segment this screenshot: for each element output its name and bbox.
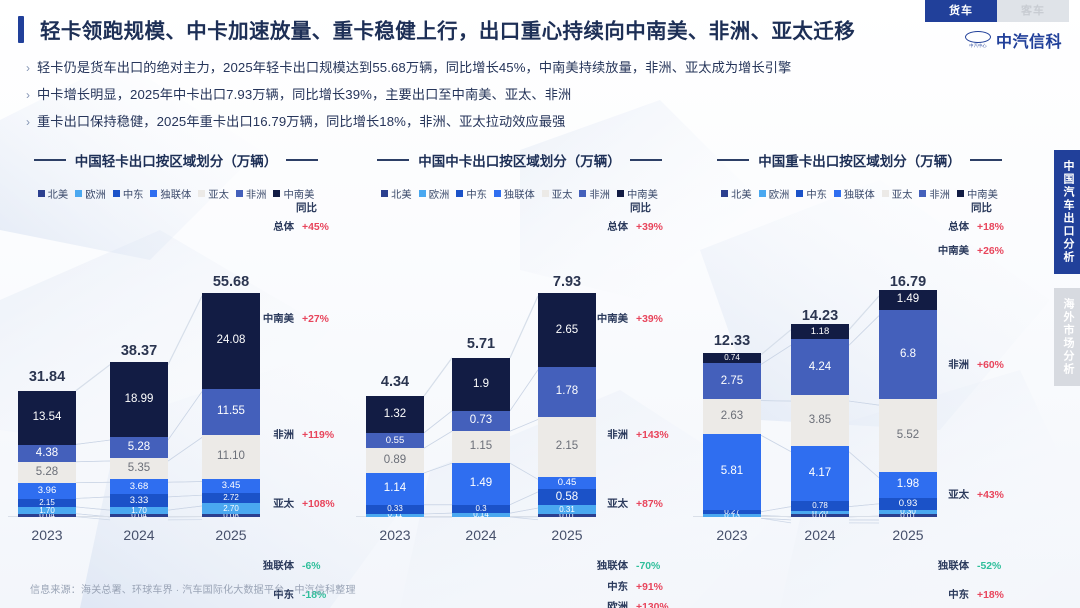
segment-value-label: 1.70	[39, 507, 55, 514]
bar-segment-北美[interactable]: 0.04	[18, 514, 76, 517]
yoy-region-label: 中南美	[258, 310, 294, 325]
legend-label: 中南美	[627, 186, 658, 201]
bar-segment-欧洲[interactable]: 0.13	[703, 514, 761, 517]
legend-item-4[interactable]: 亚太	[882, 186, 913, 201]
segment-value-label: 3.85	[809, 415, 831, 427]
legend-swatch-icon	[273, 190, 280, 197]
bar-segment-欧洲[interactable]: 0.14	[452, 513, 510, 517]
legend-label: 北美	[391, 186, 412, 201]
bar-segment-独联体[interactable]: 3.68	[110, 479, 168, 494]
legend-item-0[interactable]: 北美	[38, 186, 69, 201]
bar-segment-中南美[interactable]: 1.49	[879, 290, 937, 310]
top-tab-bar: 货车 客车	[925, 0, 1069, 22]
bar-segment-欧洲[interactable]: 2.70	[202, 503, 260, 514]
bar-segment-独联体[interactable]: 1.49	[452, 463, 510, 505]
bar-segment-中东[interactable]: 0.3	[452, 505, 510, 513]
legend-label: 中东	[466, 186, 487, 201]
legend-item-6[interactable]: 中南美	[617, 186, 658, 201]
segment-value-label: 0.33	[387, 505, 403, 513]
segment-value-label: 3.33	[130, 496, 149, 506]
yoy-value: -6%	[294, 561, 336, 572]
bar-segment-中南美[interactable]: 1.32	[366, 396, 424, 433]
slide-root: 货车 客车 中汽中心 中汽信科 轻卡领跑规模、中卡加速放量、重卡稳健上行，出口重…	[0, 0, 1080, 608]
chart-title-text: 中国重卡出口按区域划分（万辆）	[758, 150, 961, 170]
yoy-region-label: 非洲	[592, 426, 628, 441]
side-tab-bar: 中国汽车出口分析 海外市场分析	[1054, 150, 1080, 386]
legend-item-6[interactable]: 中南美	[957, 186, 998, 201]
yoy-column-header: 同比	[296, 200, 317, 215]
bar-segment-独联体[interactable]: 0.45	[538, 477, 596, 490]
bullet-item: › 重卡出口保持稳健，2025年重卡出口16.79万辆，同比增长18%，非洲、亚…	[26, 114, 1046, 130]
legend-swatch-icon	[796, 190, 803, 197]
x-axis-label-2023: 2023	[18, 527, 76, 543]
legend-swatch-icon	[381, 190, 388, 197]
segment-value-label: 1.70	[131, 507, 147, 514]
x-axis-label-2024: 2024	[110, 527, 168, 543]
legend-item-5[interactable]: 非洲	[236, 186, 267, 201]
segment-value-label: 0.89	[384, 455, 406, 467]
bar-segment-欧洲[interactable]: 1.70	[110, 507, 168, 514]
segment-value-label: 1.15	[470, 441, 492, 453]
bar-segment-独联体[interactable]: 5.81	[703, 434, 761, 510]
bar-segment-非洲[interactable]: 2.75	[703, 363, 761, 399]
segment-value-label: 4.38	[36, 448, 58, 460]
yoy-value: +26%	[969, 246, 1011, 257]
yoy-value: +130%	[628, 602, 670, 608]
x-axis-label-2023: 2023	[703, 527, 761, 543]
legend-label: 欧洲	[769, 186, 790, 201]
yoy-value: +43%	[969, 490, 1011, 501]
legend-label: 独联体	[844, 186, 875, 201]
yoy-column-header: 同比	[630, 200, 651, 215]
x-axis-label-2025: 2025	[879, 527, 937, 543]
segment-value-label: 0.58	[556, 492, 578, 504]
bar-total-label-2025: 16.79	[879, 274, 937, 290]
charts-row: 中国轻卡出口按区域划分（万辆） 北美欧洲中东独联体亚太非洲中南美 31.8420…	[0, 148, 1040, 553]
yoy-row-非洲: 非洲+143%	[592, 426, 670, 441]
segment-value-label: 2.75	[721, 376, 743, 388]
x-axis-label-2024: 2024	[791, 527, 849, 543]
segment-value-label: 0.3	[475, 505, 486, 513]
stacked-bar-2024[interactable]: 1.184.243.854.170.780.200.01	[791, 324, 849, 517]
bar-segment-亚太[interactable]: 3.85	[791, 395, 849, 446]
segment-value-label: 0.55	[386, 436, 405, 446]
segment-value-label: 0.08	[223, 514, 239, 517]
legend-swatch-icon	[759, 190, 766, 197]
yoy-value: +39%	[628, 314, 670, 325]
segment-value-label: 5.81	[721, 466, 743, 478]
bar-total-label-2023: 12.33	[703, 333, 761, 349]
title-rule-left	[717, 159, 749, 161]
stacked-bar-2023[interactable]: 0.742.752.635.810.270.130	[703, 353, 761, 517]
yoy-row-总体: 总体+18%	[933, 218, 1011, 233]
segment-value-label: 0.04	[39, 514, 55, 517]
bar-segment-亚太[interactable]: 2.15	[538, 417, 596, 477]
bar-segment-北美[interactable]: 0.01	[879, 514, 937, 517]
yoy-region-label: 独联体	[933, 557, 969, 572]
bar-segment-中南美[interactable]: 24.08	[202, 293, 260, 389]
segment-value-label: 18.99	[125, 394, 154, 406]
bar-segment-非洲[interactable]: 11.55	[202, 389, 260, 435]
legend-label: 独联体	[504, 186, 535, 201]
segment-value-label: 3.68	[130, 482, 149, 492]
legend-item-0[interactable]: 北美	[381, 186, 412, 201]
bar-total-label-2024: 38.37	[110, 343, 168, 359]
yoy-row-欧洲: 欧洲+130%	[592, 598, 670, 608]
chart-title: 中国中卡出口按区域划分（万辆）	[352, 150, 687, 170]
bullet-text: 重卡出口保持稳健，2025年重卡出口16.79万辆，同比增长18%，非洲、亚太拉…	[37, 114, 565, 130]
yoy-value: +60%	[969, 360, 1011, 371]
chart-plot-area: 31.84202313.544.385.283.962.151.700.0438…	[0, 214, 352, 553]
yoy-row-亚太: 亚太+108%	[258, 495, 336, 510]
bar-segment-非洲[interactable]: 6.8	[879, 310, 937, 400]
title-rule-left	[377, 159, 409, 161]
segment-value-label: 0.01	[812, 514, 828, 517]
chart-light-truck-exports: 中国轻卡出口按区域划分（万辆） 北美欧洲中东独联体亚太非洲中南美 31.8420…	[0, 148, 352, 553]
yoy-value: +119%	[294, 430, 336, 441]
legend-swatch-icon	[721, 190, 728, 197]
segment-value-label: 0.31	[559, 506, 575, 514]
bullet-item: › 中卡增长明显，2025年中卡出口7.93万辆，同比增长39%，主要出口至中南…	[26, 87, 1046, 103]
legend-swatch-icon	[198, 190, 205, 197]
yoy-region-label: 中南美	[592, 310, 628, 325]
bar-segment-中南美[interactable]: 1.9	[452, 358, 510, 411]
yoy-row-总体: 总体+45%	[258, 218, 336, 233]
legend-item-4[interactable]: 亚太	[542, 186, 573, 201]
bar-total-label-2024: 5.71	[452, 336, 510, 352]
yoy-value: +143%	[628, 430, 670, 441]
x-axis-label-2025: 2025	[538, 527, 596, 543]
yoy-region-label: 亚太	[592, 495, 628, 510]
yoy-row-中南美: 中南美+39%	[592, 310, 670, 325]
yoy-value: +91%	[628, 582, 670, 593]
segment-value-label: 0.13	[724, 514, 740, 517]
title-rule-left	[34, 159, 66, 161]
yoy-row-中南美: 中南美+27%	[258, 310, 336, 325]
segment-value-label: 4.17	[809, 468, 831, 480]
top-tab-buses[interactable]: 客车	[997, 0, 1069, 22]
yoy-row-中东: 中东+18%	[933, 586, 1011, 601]
legend-label: 中南美	[967, 186, 998, 201]
chart-title: 中国轻卡出口按区域划分（万辆）	[0, 150, 352, 170]
bar-total-label-2023: 4.34	[366, 374, 424, 390]
segment-value-label: 0.93	[899, 499, 918, 509]
segment-value-label: 2.15	[556, 441, 578, 453]
source-note: 信息来源：海关总署、环球车界 · 汽车国际化大数据平台、中汽信科整理	[30, 581, 356, 596]
bar-segment-中东[interactable]: 0.58	[538, 489, 596, 505]
yoy-value: +18%	[969, 590, 1011, 601]
chart-heavy-truck-exports: 中国重卡出口按区域划分（万辆） 北美欧洲中东独联体亚太非洲中南美 12.3320…	[687, 148, 1032, 553]
side-tab-china-export-analysis[interactable]: 中国汽车出口分析	[1054, 150, 1080, 274]
legend-swatch-icon	[456, 190, 463, 197]
bar-segment-亚太[interactable]: 0.89	[366, 448, 424, 473]
legend-swatch-icon	[579, 190, 586, 197]
yoy-region-label: 总体	[258, 218, 294, 233]
legend-swatch-icon	[236, 190, 243, 197]
segment-value-label: 2.70	[223, 505, 239, 513]
legend-swatch-icon	[882, 190, 889, 197]
segment-value-label: 0.45	[558, 478, 577, 488]
yoy-row-独联体: 独联体-52%	[933, 557, 1011, 572]
bullet-text: 中卡增长明显，2025年中卡出口7.93万辆，同比增长39%，主要出口至中南美、…	[37, 87, 571, 103]
segment-value-label: 2.63	[721, 411, 743, 423]
legend-swatch-icon	[38, 190, 45, 197]
brand-logo: 中汽中心 中汽信科	[965, 28, 1062, 52]
legend-item-3[interactable]: 独联体	[834, 186, 875, 201]
yoy-row-总体: 总体+39%	[592, 218, 670, 233]
bar-segment-中东[interactable]: 0.78	[791, 501, 849, 511]
segment-value-label: 11.55	[217, 406, 245, 418]
bar-segment-亚太[interactable]: 1.15	[452, 431, 510, 463]
segment-value-label: 13.54	[33, 412, 62, 424]
legend-item-3[interactable]: 独联体	[150, 186, 191, 201]
legend-item-1[interactable]: 欧洲	[419, 186, 450, 201]
chart-title: 中国重卡出口按区域划分（万辆）	[687, 150, 1032, 170]
chevron-right-icon: ›	[26, 87, 30, 103]
stacked-bar-2023[interactable]: 1.320.550.891.140.330.110	[366, 396, 424, 517]
segment-value-label: 5.52	[897, 430, 919, 442]
chart-legend: 北美欧洲中东独联体亚太非洲中南美	[352, 186, 687, 201]
bullet-text: 轻卡仍是货车出口的绝对主力，2025年轻卡出口规模达到55.68万辆，同比增长4…	[37, 60, 791, 76]
stacked-bar-2024[interactable]: 1.90.731.151.490.30.140	[452, 358, 510, 517]
yoy-region-label: 中东	[933, 586, 969, 601]
legend-item-6[interactable]: 中南美	[273, 186, 314, 201]
bar-total-label-2025: 7.93	[538, 274, 596, 290]
bar-segment-欧洲[interactable]: 1.70	[18, 507, 76, 514]
bar-segment-非洲[interactable]: 4.24	[791, 339, 849, 395]
bar-segment-北美[interactable]: 0.08	[202, 514, 260, 517]
segment-value-label: 24.08	[217, 335, 246, 347]
stacked-bar-2025[interactable]: 2.651.782.150.450.580.310.01	[538, 293, 596, 517]
segment-value-label: 0.01	[559, 514, 575, 517]
bar-segment-欧洲[interactable]: 0.11	[366, 514, 424, 517]
bar-total-label-2025: 55.68	[202, 274, 260, 290]
bar-segment-独联体[interactable]: 1.14	[366, 473, 424, 505]
bar-segment-独联体[interactable]: 3.96	[18, 483, 76, 499]
yoy-value: +108%	[294, 499, 336, 510]
legend-item-2[interactable]: 中东	[113, 186, 144, 201]
side-tab-overseas-market-analysis[interactable]: 海外市场分析	[1054, 288, 1080, 386]
bar-segment-中东[interactable]: 2.72	[202, 493, 260, 504]
bar-segment-北美[interactable]: 0.01	[538, 514, 596, 517]
bar-segment-中东[interactable]: 0.33	[366, 505, 424, 514]
legend-label: 中南美	[283, 186, 314, 201]
yoy-column-header: 同比	[971, 200, 992, 215]
bar-segment-中南美[interactable]: 0.74	[703, 353, 761, 363]
yoy-row-非洲: 非洲+60%	[933, 356, 1011, 371]
segment-value-label: 1.32	[384, 409, 406, 421]
yoy-value: +87%	[628, 499, 670, 510]
logo-mark-subtext: 中汽中心	[965, 43, 991, 49]
legend-item-2[interactable]: 中东	[796, 186, 827, 201]
yoy-region-label: 非洲	[933, 356, 969, 371]
title-rule-right	[630, 159, 662, 161]
segment-value-label: 2.15	[39, 499, 55, 507]
bar-segment-亚太[interactable]: 5.28	[18, 462, 76, 483]
summary-bullets: › 轻卡仍是货车出口的绝对主力，2025年轻卡出口规模达到55.68万辆，同比增…	[26, 60, 1046, 141]
bar-total-label-2024: 14.23	[791, 308, 849, 324]
yoy-value: +27%	[294, 314, 336, 325]
bar-segment-非洲[interactable]: 0.73	[452, 411, 510, 431]
bar-segment-中东[interactable]: 2.15	[18, 499, 76, 508]
stacked-bar-2025[interactable]: 24.0811.5511.103.452.722.700.08	[202, 293, 260, 517]
yoy-region-label: 非洲	[258, 426, 294, 441]
bar-segment-非洲[interactable]: 5.28	[110, 437, 168, 458]
legend-swatch-icon	[919, 190, 926, 197]
yoy-value: -70%	[628, 561, 670, 572]
bar-segment-北美[interactable]: 0.01	[791, 514, 849, 517]
segment-value-label: 0.04	[131, 514, 147, 517]
yoy-region-label: 中东	[592, 578, 628, 593]
stacked-bar-2024[interactable]: 18.995.285.353.683.331.700.04	[110, 362, 168, 517]
segment-value-label: 6.8	[900, 349, 916, 361]
legend-label: 欧洲	[85, 186, 106, 201]
segment-value-label: 0.01	[900, 514, 916, 517]
bar-segment-非洲[interactable]: 1.78	[538, 367, 596, 417]
segment-value-label: 1.9	[473, 379, 489, 391]
bar-segment-中东[interactable]: 0.93	[879, 498, 937, 510]
chart-plot-area: 4.3420231.320.550.891.140.330.1105.71202…	[352, 214, 687, 553]
segment-value-label: 1.49	[470, 478, 492, 490]
legend-item-2[interactable]: 中东	[456, 186, 487, 201]
yoy-region-label: 独联体	[258, 557, 294, 572]
yoy-row-亚太: 亚太+87%	[592, 495, 670, 510]
legend-label: 非洲	[246, 186, 267, 201]
yoy-row-独联体: 独联体-6%	[258, 557, 336, 572]
legend-swatch-icon	[150, 190, 157, 197]
legend-item-1[interactable]: 欧洲	[75, 186, 106, 201]
chevron-right-icon: ›	[26, 60, 30, 76]
legend-label: 非洲	[589, 186, 610, 201]
x-axis-label-2024: 2024	[452, 527, 510, 543]
yoy-region-label: 亚太	[258, 495, 294, 510]
yoy-value: +45%	[294, 222, 336, 233]
logo-icon: 中汽中心	[965, 31, 991, 49]
legend-label: 中东	[806, 186, 827, 201]
legend-label: 独联体	[160, 186, 191, 201]
legend-swatch-icon	[113, 190, 120, 197]
segment-value-label: 1.14	[384, 483, 406, 495]
legend-label: 欧洲	[429, 186, 450, 201]
bar-segment-中南美[interactable]: 18.99	[110, 362, 168, 437]
legend-item-5[interactable]: 非洲	[919, 186, 950, 201]
yoy-value: +18%	[969, 222, 1011, 233]
segment-value-label: 0.74	[724, 354, 740, 362]
stacked-bar-2025[interactable]: 1.496.85.521.980.930.300.01	[879, 290, 937, 517]
chart-plot-area: 12.3320230.742.752.635.810.270.13014.232…	[687, 214, 1032, 553]
legend-swatch-icon	[957, 190, 964, 197]
yoy-region-label: 欧洲	[592, 598, 628, 608]
segment-value-label: 2.65	[556, 325, 578, 337]
yoy-region-label: 亚太	[933, 486, 969, 501]
yoy-region-label: 总体	[933, 218, 969, 233]
legend-label: 中东	[123, 186, 144, 201]
yoy-row-中东: 中东+91%	[592, 578, 670, 593]
bar-segment-亚太[interactable]: 5.35	[110, 458, 168, 479]
yoy-value: -52%	[969, 561, 1011, 572]
yoy-row-独联体: 独联体-70%	[592, 557, 670, 572]
yoy-region-label: 独联体	[592, 557, 628, 572]
bar-total-label-2023: 31.84	[18, 369, 76, 385]
bar-segment-亚太[interactable]: 2.63	[703, 399, 761, 434]
segment-value-label: 0.73	[470, 415, 492, 427]
chevron-right-icon: ›	[26, 114, 30, 130]
legend-item-3[interactable]: 独联体	[494, 186, 535, 201]
bar-segment-北美[interactable]: 0.04	[110, 514, 168, 517]
bar-segment-中东[interactable]: 3.33	[110, 494, 168, 507]
legend-swatch-icon	[419, 190, 426, 197]
yoy-region-label: 中南美	[933, 242, 969, 257]
chart-title-text: 中国中卡出口按区域划分（万辆）	[418, 150, 621, 170]
bar-segment-独联体[interactable]: 3.45	[202, 479, 260, 493]
legend-label: 北美	[48, 186, 69, 201]
x-axis-label-2023: 2023	[366, 527, 424, 543]
legend-label: 亚太	[208, 186, 229, 201]
top-tab-trucks[interactable]: 货车	[925, 0, 997, 22]
segment-value-label: 0.14	[473, 513, 489, 517]
legend-swatch-icon	[542, 190, 549, 197]
legend-item-5[interactable]: 非洲	[579, 186, 610, 201]
bar-segment-中南美[interactable]: 2.65	[538, 293, 596, 367]
chart-medium-truck-exports: 中国中卡出口按区域划分（万辆） 北美欧洲中东独联体亚太非洲中南美 4.34202…	[352, 148, 687, 553]
yoy-region-label: 总体	[592, 218, 628, 233]
page-title: 轻卡领跑规模、中卡加速放量、重卡稳健上行，出口重心持续向中南美、非洲、亚太迁移	[18, 14, 855, 44]
bar-segment-非洲[interactable]: 0.55	[366, 433, 424, 448]
segment-value-label: 4.24	[809, 362, 831, 374]
bar-segment-亚太[interactable]: 11.10	[202, 435, 260, 479]
bar-segment-欧洲[interactable]: 0.31	[538, 505, 596, 514]
yoy-value: +39%	[628, 222, 670, 233]
chart-title-text: 中国轻卡出口按区域划分（万辆）	[75, 150, 278, 170]
title-accent-bar	[18, 16, 24, 43]
segment-value-label: 5.28	[36, 467, 58, 479]
legend-item-1[interactable]: 欧洲	[759, 186, 790, 201]
segment-value-label: 0.11	[388, 514, 403, 517]
bar-segment-中南美[interactable]: 13.54	[18, 391, 76, 445]
chart-legend: 北美欧洲中东独联体亚太非洲中南美	[687, 186, 1032, 201]
x-axis-label-2025: 2025	[202, 527, 260, 543]
segment-value-label: 5.28	[128, 442, 150, 454]
bar-segment-亚太[interactable]: 5.52	[879, 399, 937, 472]
legend-item-4[interactable]: 亚太	[198, 186, 229, 201]
legend-swatch-icon	[834, 190, 841, 197]
segment-value-label: 3.45	[222, 481, 241, 491]
bullet-item: › 轻卡仍是货车出口的绝对主力，2025年轻卡出口规模达到55.68万辆，同比增…	[26, 60, 1046, 76]
yoy-row-中南美: 中南美+26%	[933, 242, 1011, 257]
yoy-row-亚太: 亚太+43%	[933, 486, 1011, 501]
page-title-text: 轻卡领跑规模、中卡加速放量、重卡稳健上行，出口重心持续向中南美、非洲、亚太迁移	[40, 14, 855, 44]
legend-item-0[interactable]: 北美	[721, 186, 752, 201]
segment-value-label: 0.78	[812, 502, 828, 510]
legend-label: 亚太	[892, 186, 913, 201]
segment-value-label: 1.49	[897, 294, 919, 306]
segment-value-label: 2.72	[223, 494, 239, 502]
bar-segment-非洲[interactable]: 4.38	[18, 445, 76, 462]
bar-segment-中南美[interactable]: 1.18	[791, 324, 849, 340]
bar-segment-独联体[interactable]: 4.17	[791, 446, 849, 501]
legend-swatch-icon	[617, 190, 624, 197]
segment-value-label: 1.78	[556, 386, 578, 398]
segment-value-label: 5.35	[128, 463, 150, 475]
yoy-row-非洲: 非洲+119%	[258, 426, 336, 441]
bar-segment-独联体[interactable]: 1.98	[879, 472, 937, 498]
legend-label: 非洲	[929, 186, 950, 201]
segment-value-label: 11.10	[217, 451, 245, 463]
chart-legend: 北美欧洲中东独联体亚太非洲中南美	[0, 186, 352, 201]
legend-swatch-icon	[494, 190, 501, 197]
stacked-bar-2023[interactable]: 13.544.385.283.962.151.700.04	[18, 391, 76, 517]
legend-label: 北美	[731, 186, 752, 201]
